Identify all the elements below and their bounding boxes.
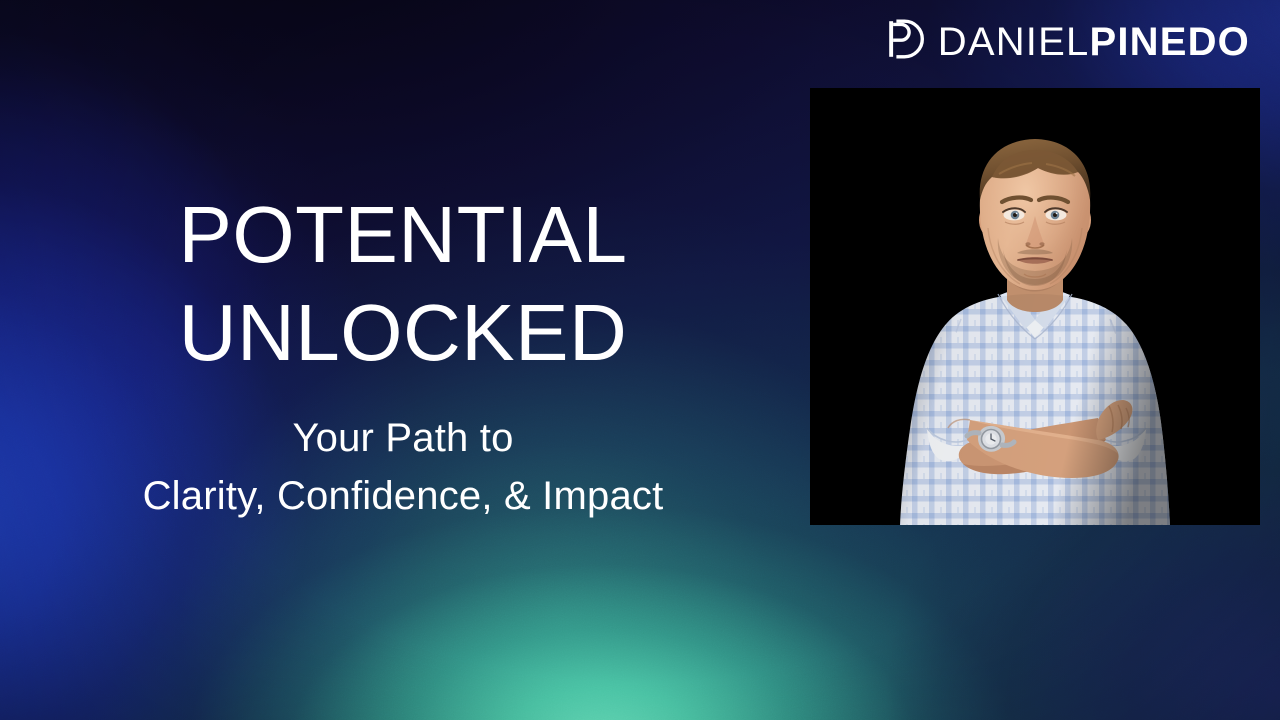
subtitle-line-1: Your Path to [60, 409, 746, 467]
brand-logo: DANIELPINEDO [884, 18, 1250, 65]
brand-logo-firstname: DANIEL [938, 22, 1090, 62]
brand-logo-lastname: PINEDO [1089, 22, 1250, 62]
headline-block: POTENTIAL UNLOCKED Your Path to Clarity,… [0, 186, 790, 525]
page-subtitle: Your Path to Clarity, Confidence, & Impa… [0, 409, 790, 525]
page-title: POTENTIAL UNLOCKED [0, 186, 790, 381]
subtitle-line-2: Clarity, Confidence, & Impact [60, 467, 746, 525]
dp-monogram-icon [884, 18, 925, 65]
title-line-1: POTENTIAL [60, 186, 746, 284]
title-line-2: UNLOCKED [60, 284, 746, 382]
speaker-portrait-photo [810, 88, 1260, 525]
slide-canvas: DANIELPINEDO POTENTIAL UNLOCKED Your Pat… [0, 0, 1280, 720]
brand-logo-wordmark: DANIELPINEDO [938, 22, 1250, 62]
